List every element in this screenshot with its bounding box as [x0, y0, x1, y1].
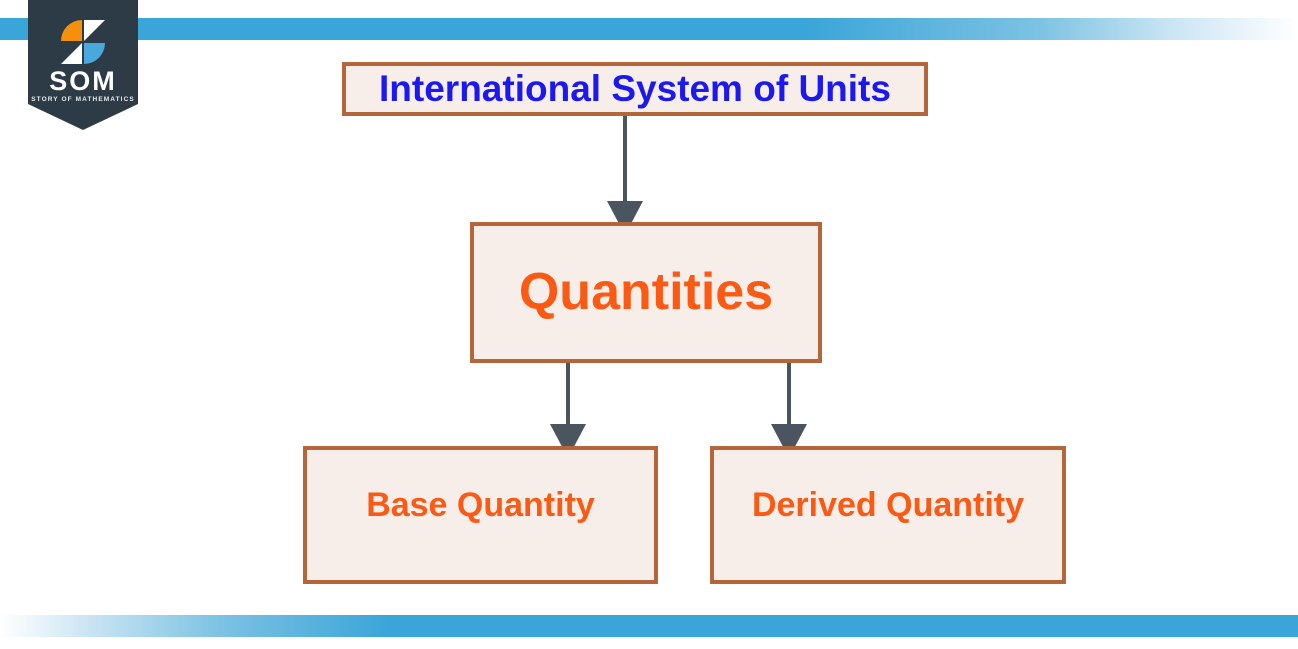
- top-accent-bar: [0, 18, 1298, 40]
- som-logo-mark-icon: [59, 18, 107, 66]
- som-logo-tagline: STORY OF MATHEMATICS: [28, 97, 138, 104]
- node-label: International System of Units: [379, 70, 891, 109]
- som-logo-badge: SOM STORY OF MATHEMATICS: [28, 0, 138, 130]
- node-quantities: Quantities: [470, 222, 822, 363]
- som-logo-text: SOM: [28, 68, 138, 95]
- node-label: Base Quantity: [366, 488, 595, 524]
- node-derived-quantity: Derived Quantity: [710, 446, 1066, 584]
- node-label: Quantities: [519, 265, 773, 320]
- node-international-system-of-units: International System of Units: [342, 62, 928, 116]
- node-base-quantity: Base Quantity: [303, 446, 658, 584]
- diagram-canvas: SOM STORY OF MATHEMATICS International S…: [0, 0, 1298, 649]
- bottom-accent-bar: [0, 615, 1298, 637]
- node-label: Derived Quantity: [752, 488, 1024, 524]
